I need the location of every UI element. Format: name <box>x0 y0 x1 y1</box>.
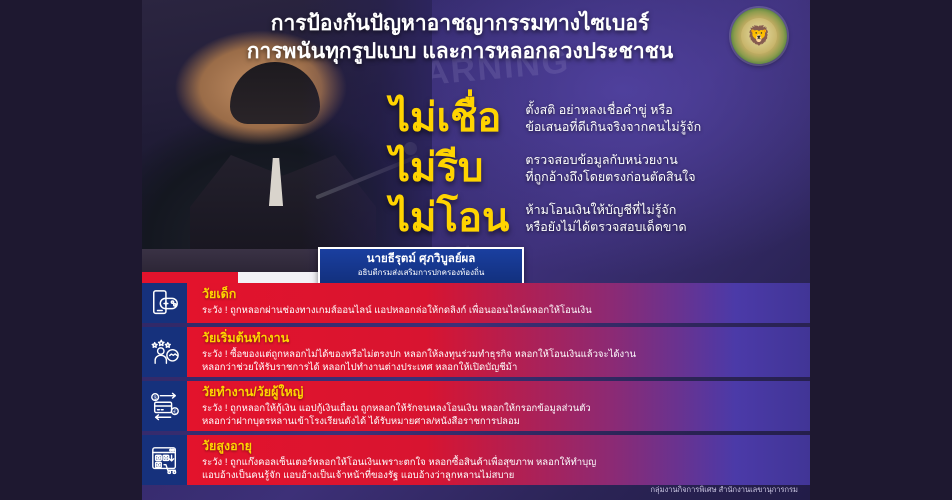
age-group-heading: วัยสูงอายุ <box>202 439 800 455</box>
letterbox-right <box>810 0 952 500</box>
slogan-detail-0-line2: ข้อเสนอที่ดีเกินจริงจากคนไม่รู้จัก <box>525 119 701 136</box>
age-group-text-line1: ระวัง ! ซื้อของแต่ถูกหลอกไม่ได้ของหรือไม… <box>202 348 800 361</box>
age-group-text: ระวัง ! ถูกหลอกให้กู้เงิน แอปกู้เงินเถื่… <box>202 402 800 428</box>
speaker-nameplate: นายธีรุตม์ ศุภวิบูลย์ผล อธิบดีกรมส่งเสริ… <box>318 247 524 285</box>
letterbox-left <box>0 0 142 500</box>
phone-gamepad-icon <box>142 283 190 323</box>
speaker-name: นายธีรุตม์ ศุภวิบูลย์ผล <box>330 253 512 267</box>
age-group-text: ระวัง ! ถูกหลอกผ่านช่องทางเกมส์ออนไลน์ แ… <box>202 304 800 317</box>
age-group-text: ระวัง ! ซื้อของแต่ถูกหลอกไม่ได้ของหรือไม… <box>202 348 800 374</box>
slogan-detail-2: ห้ามโอนเงินให้บัญชีที่ไม่รู้จัก หรือยังไ… <box>525 202 701 252</box>
slogan-detail-0-line1: ตั้งสติ อย่าหลงเชื่อคำขู่ หรือ <box>525 102 701 119</box>
money-transfer-card-icon: $ € <box>142 381 190 431</box>
title-line-1: การป้องกันปัญหาอาชญากรรมทางไซเบอร์ <box>271 12 649 35</box>
age-group-row: วัยสูงอายุ ระวัง ! ถูกแก๊งคอลเซ็นเตอร์หล… <box>142 435 810 485</box>
age-group-body: วัยสูงอายุ ระวัง ! ถูกแก๊งคอลเซ็นเตอร์หล… <box>190 435 810 485</box>
page-title: การป้องกันปัญหาอาชญากรรมทางไซเบอร์ การพน… <box>142 10 810 65</box>
age-group-text-line1: ระวัง ! ถูกหลอกให้กู้เงิน แอปกู้เงินเถื่… <box>202 402 800 415</box>
age-group-text: ระวัง ! ถูกแก๊งคอลเซ็นเตอร์หลอกให้โอนเงิ… <box>202 456 800 482</box>
age-group-row: วัยเริ่มต้นทำงาน ระวัง ! ซื้อของแต่ถูกหล… <box>142 327 810 377</box>
age-group-text-line1: ระวัง ! ถูกแก๊งคอลเซ็นเตอร์หลอกให้โอนเงิ… <box>202 456 800 469</box>
browser-shopping-cart-icon <box>142 435 190 485</box>
age-group-list: วัยเด็ก ระวัง ! ถูกหลอกผ่านช่องทางเกมส์อ… <box>142 283 810 489</box>
title-line-2: การพนันทุกรูปแบบ และการหลอกลวงประชาชน <box>182 38 738 66</box>
speaker-position: อธิบดีกรมส่งเสริมการปกครองท้องถิ่น <box>330 268 512 278</box>
infographic-poster: WARNING UNKNOWN 🦁 การป้องกันปัญหาอาชญากร… <box>0 0 952 500</box>
age-group-text-line2: หลอกว่าช่วยให้รับราชการได้ หลอกไปทำงานต่… <box>202 361 800 374</box>
age-group-heading: วัยเริ่มต้นทำงาน <box>202 331 800 347</box>
poster-artboard: WARNING UNKNOWN 🦁 การป้องกันปัญหาอาชญากร… <box>142 0 810 500</box>
ribbon-red <box>142 272 238 283</box>
age-group-heading: วัยเด็ก <box>202 287 800 303</box>
age-group-row: วัยเด็ก ระวัง ! ถูกหลอกผ่านช่องทางเกมส์อ… <box>142 283 810 323</box>
age-group-text-line1: ระวัง ! ถูกหลอกผ่านช่องทางเกมส์ออนไลน์ แ… <box>202 304 800 317</box>
age-group-text-line2: หลอกว่าฝากบุตรหลานเข้าโรงเรียนดังได้ ได้… <box>202 415 800 428</box>
slogan-details: ตั้งสติ อย่าหลงเชื่อคำขู่ หรือ ข้อเสนอที… <box>525 90 701 252</box>
slogan-detail-1: ตรวจสอบข้อมูลกับหน่วยงาน ที่ถูกอ้างถึงโด… <box>525 152 701 202</box>
slogan-detail-2-line2: หรือยังไม่ได้ตรวจสอบเด็ดขาด <box>525 219 701 236</box>
age-group-body: วัยเด็ก ระวัง ! ถูกหลอกผ่านช่องทางเกมส์อ… <box>190 283 810 323</box>
slogan-headline-2: ไม่โอน <box>390 190 509 240</box>
slogan-headline-0: ไม่เชื่อ <box>390 90 509 140</box>
slogan-headline-1: ไม่รีบ <box>390 140 509 190</box>
slogan-detail-1-line2: ที่ถูกอ้างถึงโดยตรงก่อนตัดสินใจ <box>525 169 701 186</box>
person-stars-handshake-icon <box>142 327 190 377</box>
age-group-heading: วัยทำงาน/วัยผู้ใหญ่ <box>202 385 800 401</box>
footer-credit: กลุ่มงานกิจการพิเศษ สำนักงานเลขานุการกรม <box>651 484 798 496</box>
age-group-body: วัยเริ่มต้นทำงาน ระวัง ! ซื้อของแต่ถูกหล… <box>190 327 810 377</box>
slogan-block: ไม่เชื่อ ไม่รีบ ไม่โอน ตั้งสติ อย่าหลงเช… <box>390 90 701 252</box>
slogan-headlines: ไม่เชื่อ ไม่รีบ ไม่โอน <box>390 90 509 252</box>
age-group-body: วัยทำงาน/วัยผู้ใหญ่ ระวัง ! ถูกหลอกให้กู… <box>190 381 810 431</box>
slogan-detail-1-line1: ตรวจสอบข้อมูลกับหน่วยงาน <box>525 152 701 169</box>
age-group-text-line2: แอบอ้างเป็นคนรู้จัก แอบอ้างเป็นเจ้าหน้าท… <box>202 469 800 482</box>
slogan-detail-0: ตั้งสติ อย่าหลงเชื่อคำขู่ หรือ ข้อเสนอที… <box>525 102 701 152</box>
slogan-detail-2-line1: ห้ามโอนเงินให้บัญชีที่ไม่รู้จัก <box>525 202 701 219</box>
age-group-row: $ € วัยทำงาน/วัยผู้ใหญ่ ระวัง ! ถูกหลอกใ… <box>142 381 810 431</box>
